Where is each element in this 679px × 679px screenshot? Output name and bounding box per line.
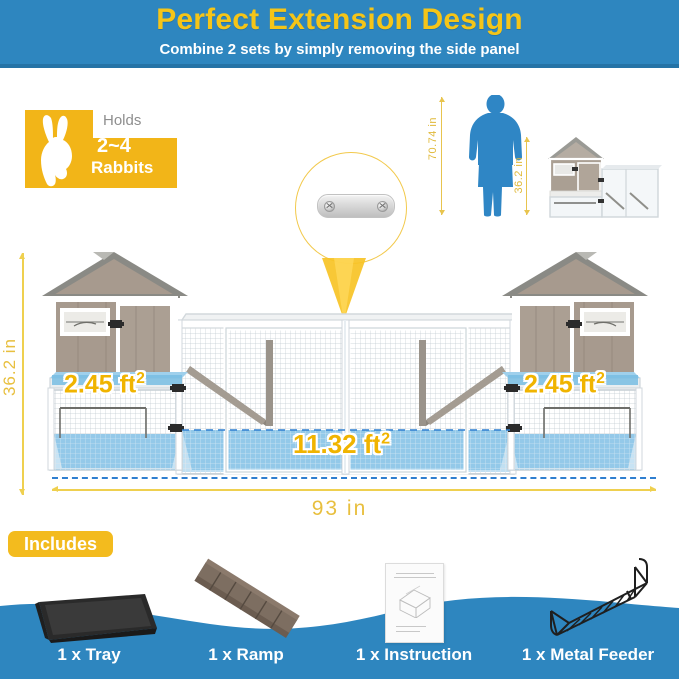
product-base-dashed-line: [52, 477, 656, 479]
infographic-canvas: Perfect Extension Design Combine 2 sets …: [0, 0, 679, 679]
page-title: Perfect Extension Design: [0, 3, 679, 37]
person-dimension-line: [441, 97, 442, 215]
connector-plate-icon: [317, 194, 395, 218]
product-width-dimension-line: [52, 489, 656, 491]
includes-label: Includes: [8, 534, 113, 555]
human-scale-comparison: 70.74 in 36.2 in: [430, 95, 670, 220]
product-width-label: 93 in: [0, 497, 679, 521]
banner-underline: [0, 64, 679, 68]
product-height-label: 36.2 in: [0, 338, 20, 396]
hutch-height-label: 36.2 in: [513, 157, 525, 194]
rabbit-icon: [31, 112, 89, 188]
metal-feeder-icon: [535, 553, 655, 645]
tray-icon: [33, 588, 158, 643]
hutch-dimension-line: [526, 137, 527, 215]
human-silhouette-icon: [458, 95, 533, 217]
include-item-label-tray: 1 x Tray: [4, 645, 174, 665]
holds-badge: Holds 2~4 Rabbits: [25, 110, 177, 188]
screw-icon: [324, 201, 335, 212]
single-hutch-thumbnail-icon: [538, 133, 666, 219]
holds-label: Holds: [103, 112, 141, 129]
upper-area-label-right: 2.45 ft2: [524, 370, 605, 399]
include-item-label-instruction: 1 x Instruction: [329, 645, 499, 665]
page-subtitle: Combine 2 sets by simply removing the si…: [0, 41, 679, 58]
include-item-label-feeder: 1 x Metal Feeder: [503, 645, 673, 665]
person-height-label: 70.74 in: [427, 117, 439, 160]
holds-unit: Rabbits: [91, 158, 153, 178]
screw-icon: [377, 201, 388, 212]
include-item-label-ramp: 1 x Ramp: [161, 645, 331, 665]
product-height-dimension-line: [22, 253, 24, 495]
header-banner: Perfect Extension Design Combine 2 sets …: [0, 0, 679, 68]
upper-area-label-left: 2.45 ft2: [64, 370, 145, 399]
run-area-label: 11.32 ft2: [293, 429, 390, 460]
instruction-manual-icon: [385, 563, 444, 643]
left-hutch: [42, 252, 188, 470]
holds-count: 2~4: [97, 136, 131, 157]
right-hutch: [502, 252, 648, 470]
ramp-icon: [186, 555, 306, 645]
includes-badge: Includes: [8, 531, 113, 557]
